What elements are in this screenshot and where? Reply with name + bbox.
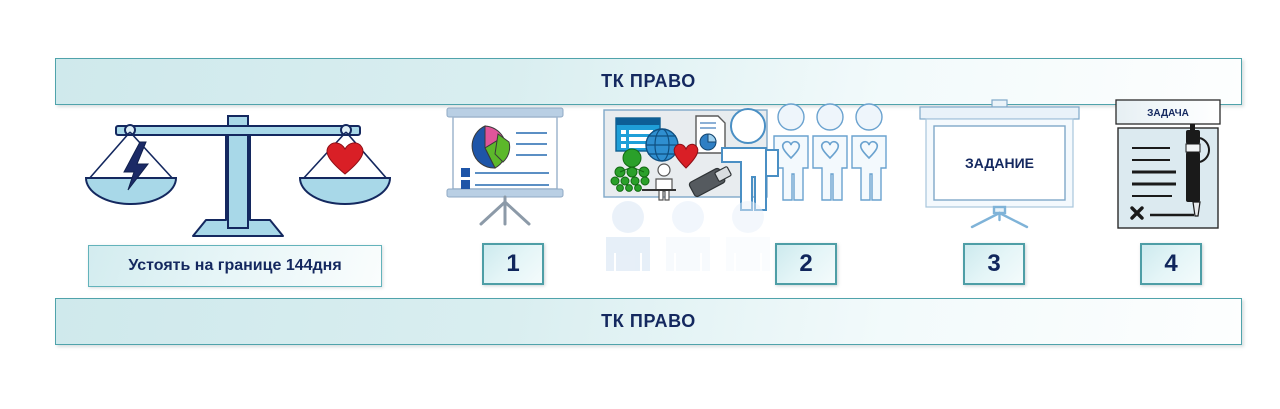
scale-left-strings xyxy=(88,132,174,180)
globe-icon xyxy=(646,129,678,161)
standing-figure xyxy=(852,104,886,200)
item-4-number-badge[interactable]: 4 xyxy=(1140,243,1202,285)
document-pen-icon: ЗАДАЧА xyxy=(1108,98,1228,238)
top-banner: ТК ПРАВО xyxy=(55,58,1242,105)
slide-canvas: ТК ПРАВО Устоять на xyxy=(0,0,1280,409)
screen-top-bar xyxy=(447,108,563,117)
balance-scale-icon xyxy=(88,108,388,243)
projector-screen-icon: ЗАДАНИЕ xyxy=(912,100,1087,228)
item-2-number: 2 xyxy=(799,250,812,278)
item-1-graphic xyxy=(443,106,573,231)
tripod-stand xyxy=(481,197,529,224)
standing-figure xyxy=(774,104,808,200)
item-1-number: 1 xyxy=(506,250,519,278)
screen-label: ЗАДАНИЕ xyxy=(965,155,1034,171)
tripod-stand xyxy=(972,207,1027,227)
item-4-number: 4 xyxy=(1164,250,1177,278)
task-header-text: ЗАДАЧА xyxy=(1147,108,1189,119)
item-3-number: 3 xyxy=(987,250,1000,278)
bullet-square-2 xyxy=(461,180,470,189)
scale-right-pivot xyxy=(341,125,351,135)
document-chart-icon xyxy=(696,116,725,153)
standing-figure xyxy=(813,104,847,200)
heart-icon xyxy=(327,143,363,174)
scales-caption-box: Устоять на границе 144дня xyxy=(88,245,382,287)
item-1-number-badge[interactable]: 1 xyxy=(482,243,544,285)
scale-beam xyxy=(116,126,360,135)
bottom-banner-text: ТК ПРАВО xyxy=(601,311,696,332)
seated-figure xyxy=(606,201,650,271)
seated-figure xyxy=(726,201,770,271)
item-3-number-badge[interactable]: 3 xyxy=(963,243,1025,285)
item-2-graphic xyxy=(598,100,898,245)
balance-scale-graphic xyxy=(88,108,388,243)
presentation-pie-chart-icon xyxy=(443,106,573,231)
presenter-audience-icon xyxy=(598,100,898,245)
document-body xyxy=(1118,128,1218,228)
scale-left-pivot xyxy=(125,125,135,135)
screen-mount xyxy=(992,100,1007,107)
item-4-graphic: ЗАДАЧА xyxy=(1108,98,1228,238)
item-3-graphic: ЗАДАНИЕ xyxy=(912,100,1087,228)
scale-right-pan xyxy=(300,178,390,204)
bottom-banner: ТК ПРАВО xyxy=(55,298,1242,345)
bullet-square-1 xyxy=(461,168,470,177)
top-banner-text: ТК ПРАВО xyxy=(601,71,696,92)
seated-figure xyxy=(666,201,710,271)
item-2-number-badge[interactable]: 2 xyxy=(775,243,837,285)
standing-figures-group xyxy=(774,104,886,200)
screen-roller-bar xyxy=(920,107,1079,119)
seated-audience-group xyxy=(606,201,770,271)
scales-caption-text: Устоять на границе 144дня xyxy=(128,257,341,275)
